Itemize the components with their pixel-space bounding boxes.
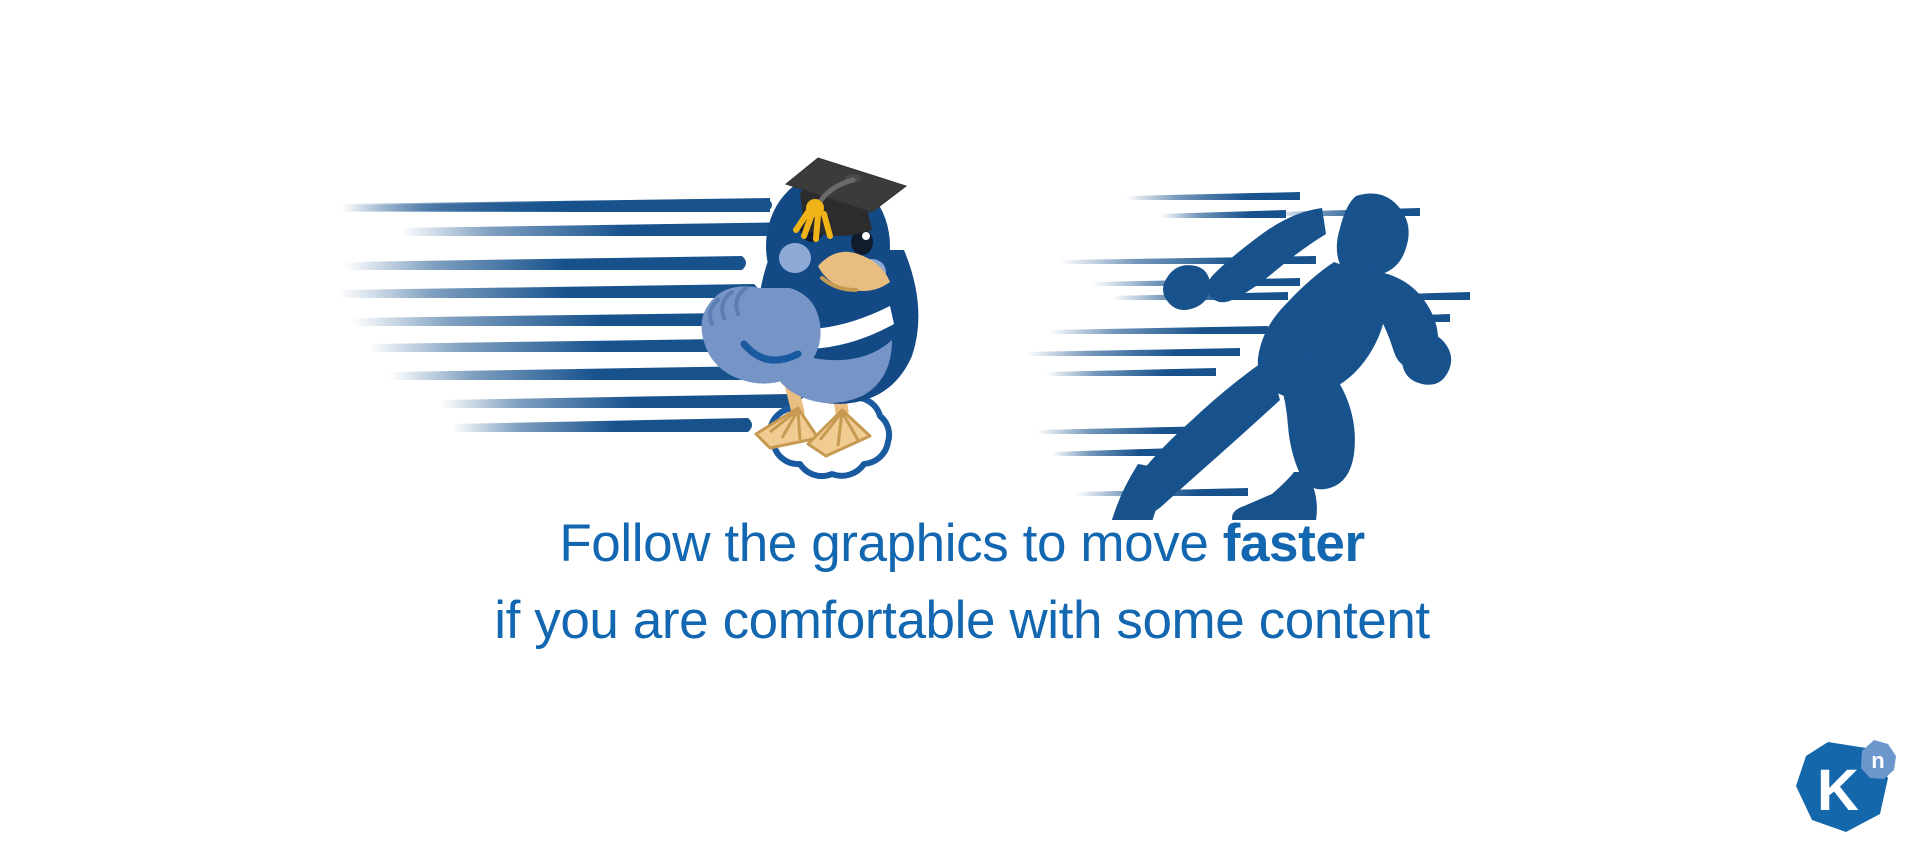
sprinting-runner <box>1074 194 1451 520</box>
logo-letter-k: K <box>1817 758 1859 823</box>
kn-logo-svg: K n <box>1792 734 1900 838</box>
illustration-area <box>0 0 1924 520</box>
illustration-svg <box>0 0 1924 520</box>
mortarboard-cap <box>786 158 906 239</box>
caption-line-1-text: Follow the graphics to move <box>559 514 1222 573</box>
kn-logo[interactable]: K n <box>1792 734 1900 838</box>
caption-emphasis-faster: faster <box>1223 514 1365 573</box>
logo-letter-n: n <box>1871 748 1884 773</box>
caption-block: Follow the graphics to move faster if yo… <box>0 512 1924 653</box>
slide-root: Follow the graphics to move faster if yo… <box>0 0 1924 852</box>
caption-line-1: Follow the graphics to move faster <box>0 512 1924 577</box>
cheek-blush-left <box>779 243 811 273</box>
caption-line-2: if you are comfortable with some content <box>0 589 1924 654</box>
